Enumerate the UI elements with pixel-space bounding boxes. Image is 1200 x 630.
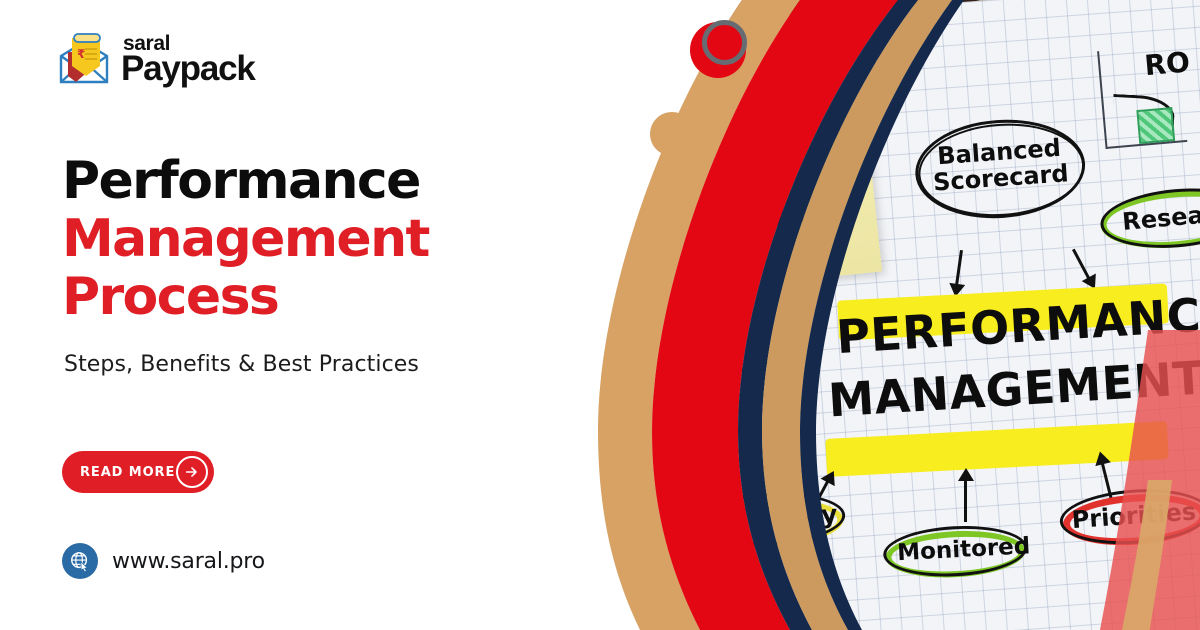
notebook-photo: nt RO BalancedScorecard Resea [560, 0, 1200, 630]
headline-line-3: Process [62, 268, 429, 326]
sticky-note-text: nt [771, 198, 807, 233]
subtitle: Steps, Benefits & Best Practices [64, 352, 419, 377]
arrow-right-icon [176, 456, 208, 488]
website-url-text: www.saral.pro [112, 549, 265, 574]
page-title: Performance Management Process [62, 152, 429, 327]
chart-y-axis [1097, 51, 1108, 149]
read-more-label: READ MORE [80, 465, 175, 480]
chart-label: RO [1143, 45, 1191, 82]
brand-logo[interactable]: ₹ saral Paypack [56, 32, 255, 88]
read-more-button[interactable]: READ MORE [62, 451, 214, 493]
sticky-note: nt [746, 92, 882, 283]
globe-cursor-icon [62, 543, 98, 579]
decor-ring-gray [702, 20, 747, 65]
hero-image-area: nt RO BalancedScorecard Resea [560, 0, 1200, 630]
banner-root: nt RO BalancedScorecard Resea [0, 0, 1200, 630]
chart-bar [1136, 107, 1175, 144]
headline-line-1: Performance [62, 152, 429, 210]
decor-dot-tan [650, 112, 694, 156]
svg-text:₹: ₹ [77, 47, 85, 61]
website-link[interactable]: www.saral.pro [62, 543, 265, 579]
headline-line-2: Management [62, 210, 429, 268]
content-panel: ₹ saral Paypack Performance Management P… [0, 0, 600, 630]
logo-text-paypack: Paypack [121, 54, 255, 84]
envelope-invoice-icon: ₹ [56, 32, 112, 88]
roi-mini-chart: RO [1087, 44, 1189, 168]
